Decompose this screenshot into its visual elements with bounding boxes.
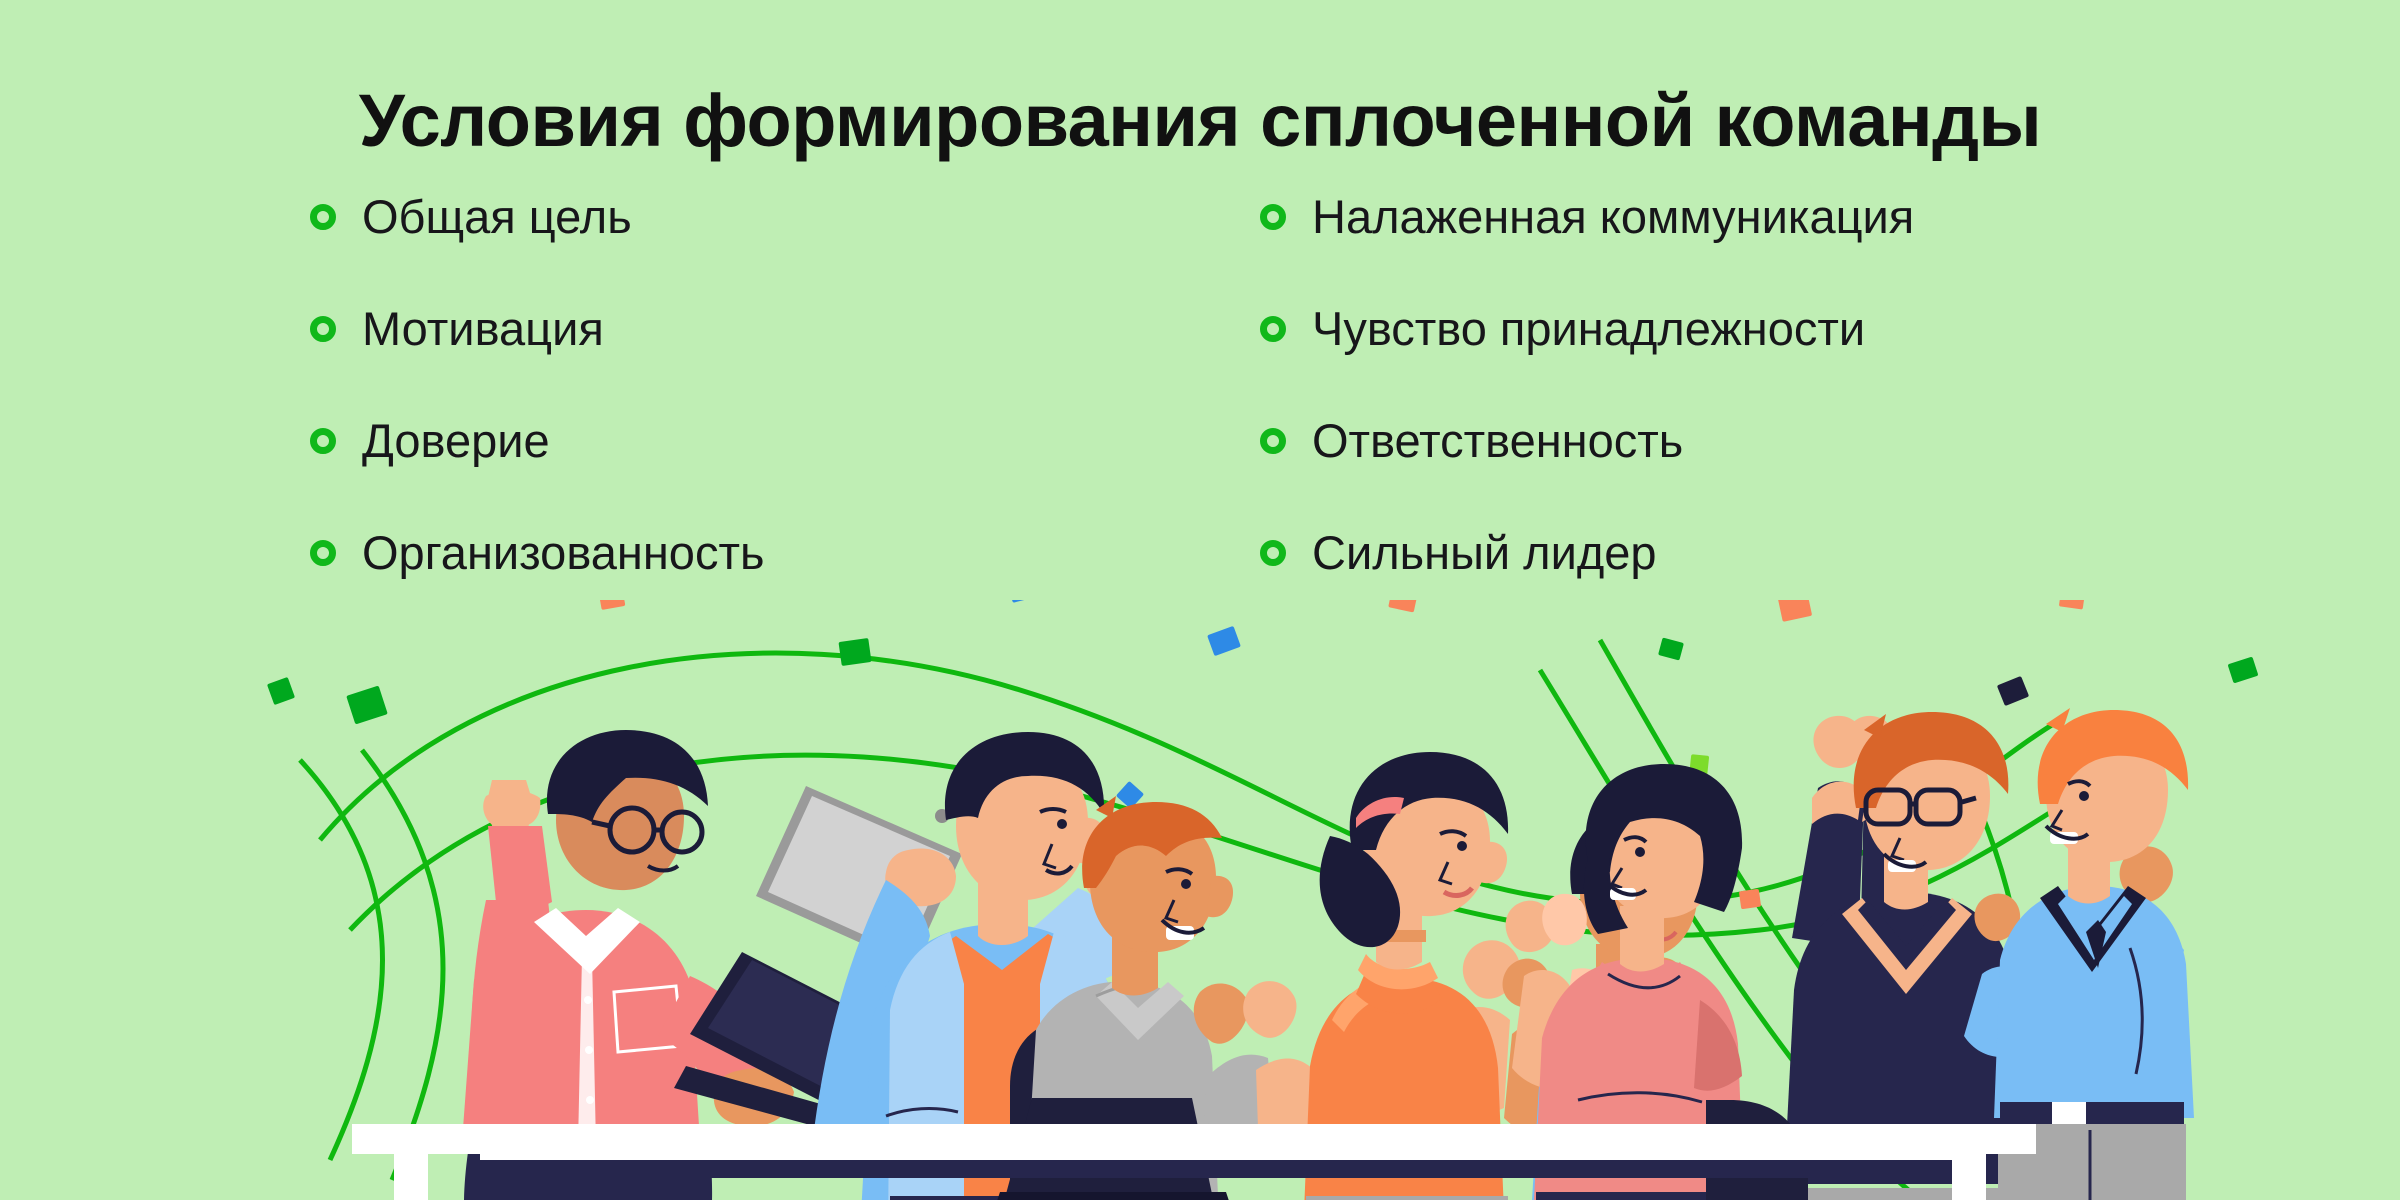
right-column: Налаженная коммуникация Чувство принадле… (1260, 185, 2190, 583)
ring-bullet-icon (1260, 428, 1286, 454)
ring-bullet-icon (310, 428, 336, 454)
list-item-label: Ответственность (1312, 417, 1683, 464)
list-item-label: Чувство принадлежности (1312, 305, 1865, 352)
list-item-label: Мотивация (362, 305, 604, 352)
ring-bullet-icon (1260, 316, 1286, 342)
list-item[interactable]: Мотивация (310, 297, 1260, 359)
list-item-label: Налаженная коммуникация (1312, 193, 1914, 240)
ring-bullet-icon (310, 540, 336, 566)
page-title: Условия формирования сплоченной команды (0, 78, 2400, 163)
conditions-lists: Общая цель Мотивация Доверие Организован… (310, 185, 2190, 583)
ring-bullet-icon (310, 316, 336, 342)
list-item[interactable]: Общая цель (310, 185, 1260, 247)
list-item[interactable]: Сильный лидер (1260, 521, 2190, 583)
list-item[interactable]: Ответственность (1260, 409, 2190, 471)
list-item-label: Сильный лидер (1312, 529, 1657, 576)
left-column: Общая цель Мотивация Доверие Организован… (310, 185, 1260, 583)
list-item[interactable]: Налаженная коммуникация (1260, 185, 2190, 247)
list-item-label: Организованность (362, 529, 764, 576)
celebrating-team-illustration (0, 600, 2400, 1200)
list-item[interactable]: Организованность (310, 521, 1260, 583)
ring-bullet-icon (1260, 204, 1286, 230)
list-item-label: Доверие (362, 417, 550, 464)
list-item[interactable]: Чувство принадлежности (1260, 297, 2190, 359)
list-item-label: Общая цель (362, 193, 632, 240)
slide-root: Условия формирования сплоченной команды … (0, 0, 2400, 1200)
ring-bullet-icon (1260, 540, 1286, 566)
ring-bullet-icon (310, 204, 336, 230)
list-item[interactable]: Доверие (310, 409, 1260, 471)
